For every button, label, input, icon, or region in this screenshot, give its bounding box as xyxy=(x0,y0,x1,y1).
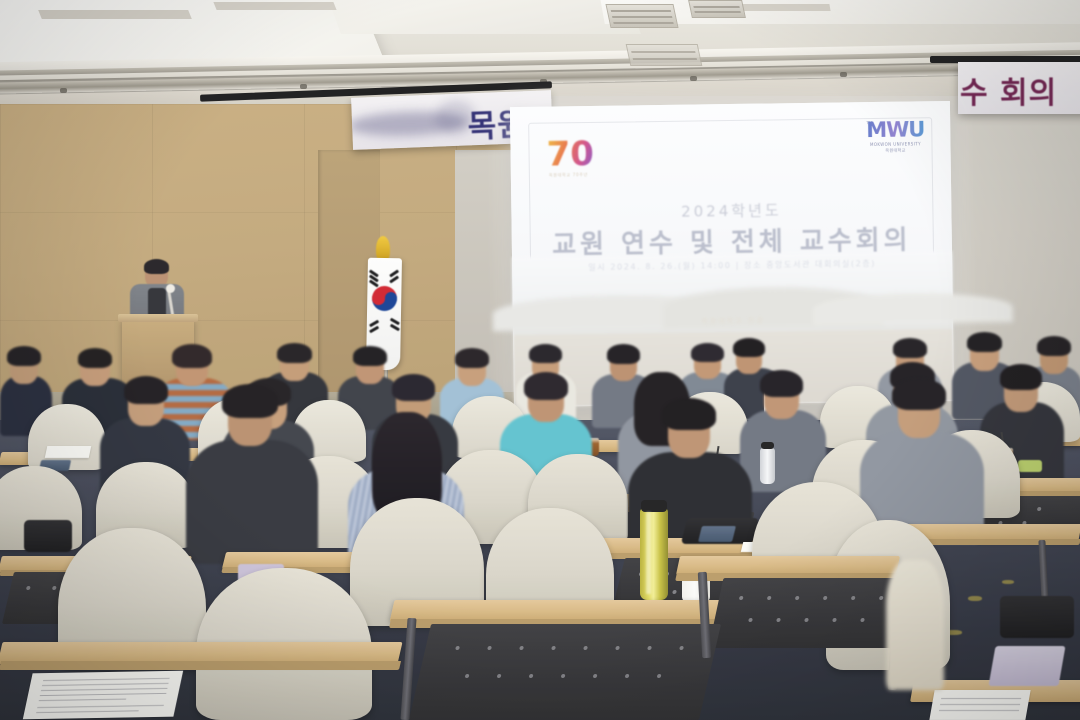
attendee xyxy=(186,440,318,564)
attendee-standing xyxy=(886,560,944,690)
anniversary-logo-70: 70 목원대학교 70주년 xyxy=(546,134,597,187)
banner-right-text: 수 회의 xyxy=(960,68,1057,112)
black-bag xyxy=(1000,596,1074,638)
water-bottle xyxy=(640,508,668,600)
air-vent-icon xyxy=(605,4,678,28)
air-vent-icon xyxy=(626,44,703,66)
desk-modesty-panel xyxy=(409,624,721,720)
ceiling-slot xyxy=(213,2,336,10)
phone xyxy=(698,526,736,542)
speaker-hair xyxy=(144,259,169,274)
green-pouch xyxy=(1018,460,1042,472)
air-vent-icon xyxy=(688,0,746,18)
document-sheet xyxy=(929,690,1030,720)
black-bag xyxy=(24,520,72,552)
document-sheet xyxy=(45,446,92,458)
lilac-box xyxy=(988,646,1065,686)
podium-top xyxy=(118,314,198,322)
conference-hall-photo: 목원대 수 회의 70 목원대학교 70주년 TM MWU MOKWON UNI… xyxy=(0,0,1080,720)
banner-right: 수 회의 xyxy=(958,62,1080,114)
university-logo-mark: MWU xyxy=(862,117,928,142)
anniversary-number: 70 xyxy=(546,134,594,175)
microphone-icon xyxy=(166,284,175,293)
ceiling-slot xyxy=(38,10,192,19)
university-logo-line2: 목원대학교 xyxy=(863,147,929,154)
water-bottle xyxy=(760,448,775,484)
bottle-cap xyxy=(641,500,667,512)
anniversary-caption: 목원대학교 70주년 xyxy=(549,172,588,179)
taeguk-symbol-icon xyxy=(372,286,397,311)
document-sheet xyxy=(23,671,183,720)
slide-title: 교원 연수 및 전체 교수회의 xyxy=(512,219,952,262)
university-logo: TM MWU MOKWON UNIVERSITY 목원대학교 xyxy=(862,117,928,152)
ceiling-light-cove-center xyxy=(319,0,641,34)
projection-screen: 70 목원대학교 70주년 TM MWU MOKWON UNIVERSITY 목… xyxy=(510,101,954,407)
